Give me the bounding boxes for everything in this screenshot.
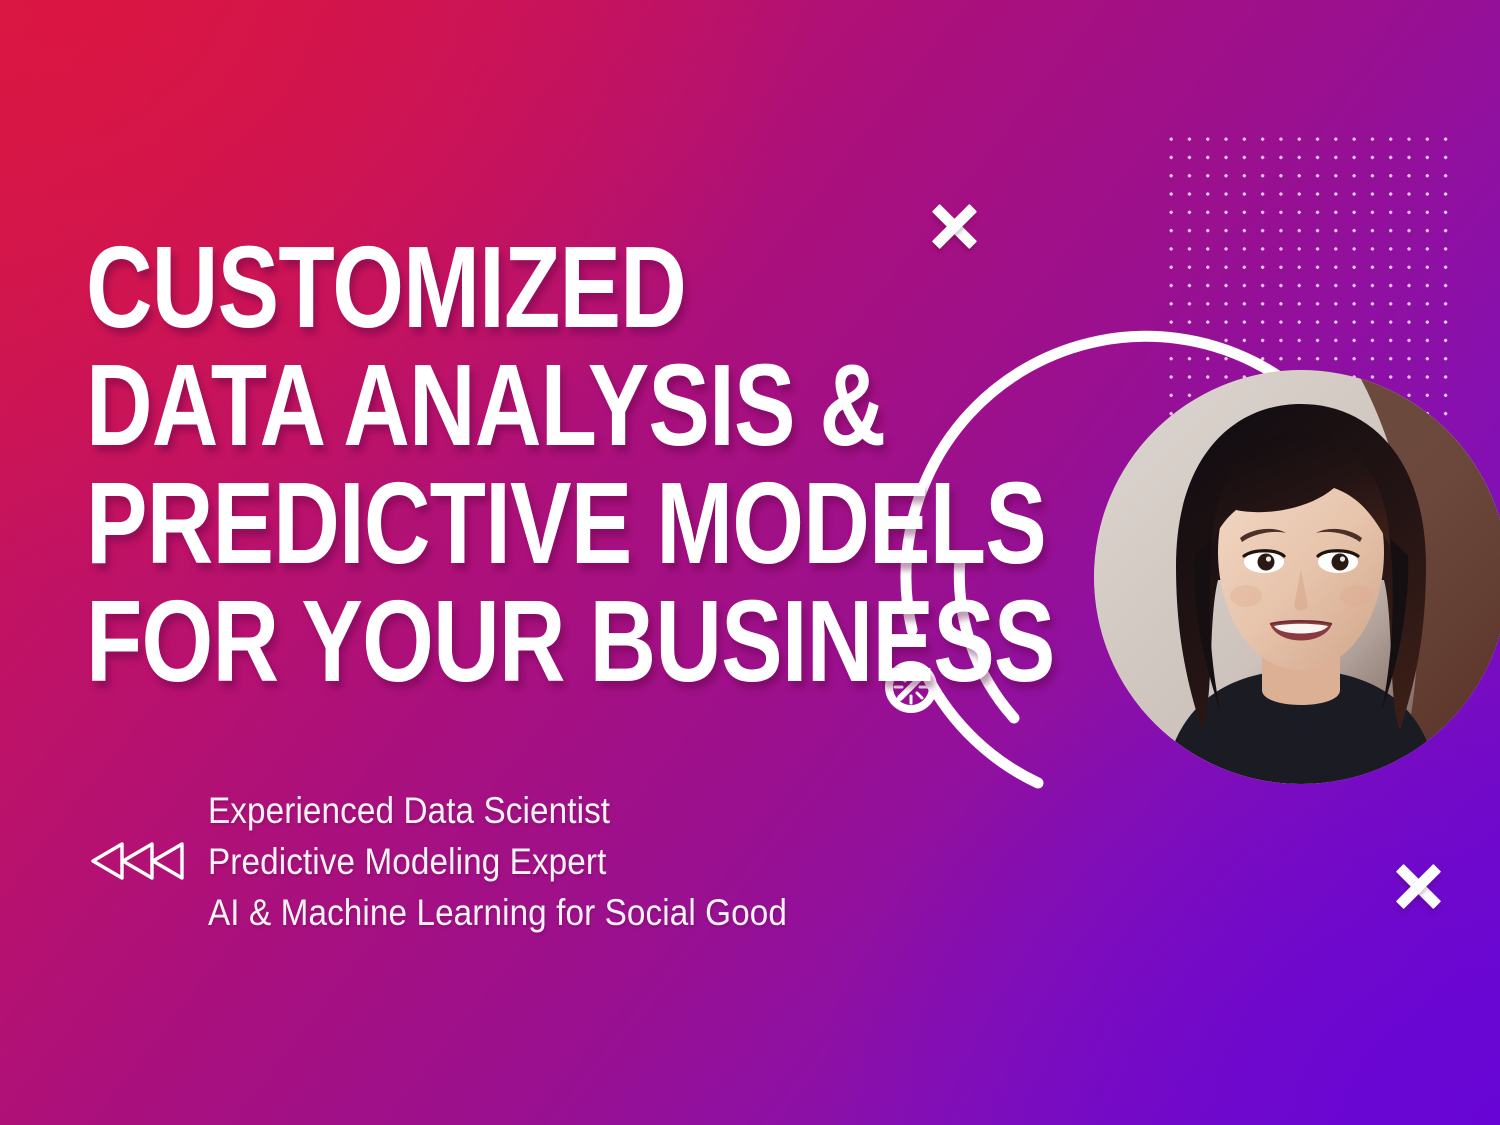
subtitle-line-1: Experienced Data Scientist (208, 785, 787, 836)
headline-line-4: FOR YOUR BUSINESS (86, 582, 706, 700)
subtitle-block: Experienced Data Scientist Predictive Mo… (88, 783, 868, 938)
cross-mark-icon (1381, 849, 1456, 924)
subtitle-lines: Experienced Data Scientist Predictive Mo… (208, 783, 851, 938)
triple-left-triangle-marks-icon (88, 838, 186, 884)
cross-mark-icon (917, 189, 992, 264)
subtitle-line-3: AI & Machine Learning for Social Good (208, 887, 787, 938)
promo-banner: CUSTOMIZED DATA ANALYSIS & PREDICTIVE MO… (0, 0, 1500, 1125)
avatar (1094, 370, 1500, 784)
headline-line-3: PREDICTIVE MODELS (86, 464, 706, 582)
headline-line-2: DATA ANALYSIS & (86, 346, 706, 464)
portrait-photo-icon (1094, 370, 1500, 784)
subtitle-line-2: Predictive Modeling Expert (208, 836, 787, 887)
headline-line-1: CUSTOMIZED (86, 228, 706, 346)
page-title: CUSTOMIZED DATA ANALYSIS & PREDICTIVE MO… (86, 228, 866, 700)
